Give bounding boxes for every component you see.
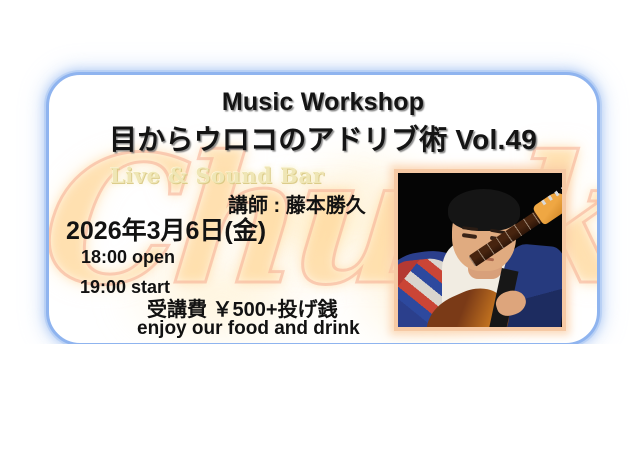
page-title: Music Workshop [49,88,597,117]
page-subtitle: 目からウロコのアドリブ術 Vol.49 [49,118,597,158]
door-open-time: 18:00 open [81,247,175,268]
event-date: 2026年3月6日(金) [66,211,266,247]
flyer-root: Chuck's Music Workshop 目からウロコのアドリブ術 Vol.… [0,0,640,452]
flyer-content: Music Workshop 目からウロコのアドリブ術 Vol.49 Live … [49,75,597,343]
performer-photo [398,173,562,327]
performer-photo-frame [394,169,566,331]
photo-hair [448,189,520,231]
invitation-text: enjoy our food and drink [137,318,360,340]
page-whitespace [0,344,640,452]
venue-tagline: Live & Sound Bar [110,163,324,188]
flyer-card: Chuck's Music Workshop 目からウロコのアドリブ術 Vol.… [46,72,600,346]
